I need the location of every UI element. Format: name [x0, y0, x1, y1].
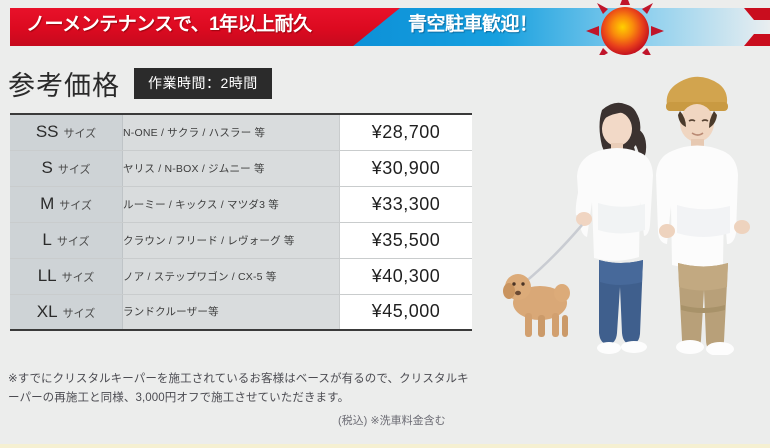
size-label: XL [37, 302, 58, 321]
size-cell: LLサイズ [10, 258, 123, 294]
models-cell: ヤリス / N-BOX / ジムニー 等 [123, 150, 340, 186]
size-unit-label: サイズ [64, 128, 97, 140]
size-label: SS [36, 122, 59, 141]
size-cell: Lサイズ [10, 222, 123, 258]
size-unit-label: サイズ [58, 164, 91, 176]
size-cell: Mサイズ [10, 186, 123, 222]
price-cell: ¥40,300 [340, 258, 473, 294]
size-cell: SSサイズ [10, 114, 123, 150]
price-cell: ¥33,300 [340, 186, 473, 222]
footnote-text: ※すでにクリスタルキーパーを施工されているお客様はベースが有るので、クリスタルキ… [8, 370, 478, 408]
price-cell: ¥45,000 [340, 294, 473, 330]
ribbon-blue-label: 青空駐車歓迎！ [408, 9, 538, 36]
models-cell: ノア / ステップワゴン / CX-5 等 [123, 258, 340, 294]
size-label: L [42, 230, 51, 249]
size-unit-label: サイズ [62, 272, 95, 284]
table-row: LLサイズノア / ステップワゴン / CX-5 等¥40,300 [10, 258, 472, 294]
size-label: S [41, 158, 52, 177]
price-cell: ¥35,500 [340, 222, 473, 258]
models-cell: N-ONE / サクラ / ハスラー 等 [123, 114, 340, 150]
ribbon-red-label: ノーメンテナンスで、1年以上耐久 [26, 9, 312, 36]
size-label: LL [38, 266, 57, 285]
work-time-badge: 作業時間：2時間 [134, 68, 272, 99]
models-cell: クラウン / フリード / レヴォーグ 等 [123, 222, 340, 258]
size-label: M [40, 194, 54, 213]
price-cell: ¥28,700 [340, 114, 473, 150]
size-cell: XLサイズ [10, 294, 123, 330]
bottom-strip [0, 444, 770, 448]
size-unit-label: サイズ [59, 200, 92, 212]
page-title: 参考価格 [8, 64, 120, 103]
table-row: SSサイズN-ONE / サクラ / ハスラー 等¥28,700 [10, 114, 472, 150]
price-cell: ¥30,900 [340, 150, 473, 186]
size-unit-label: サイズ [63, 308, 96, 320]
table-row: Lサイズクラウン / フリード / レヴォーグ 等¥35,500 [10, 222, 472, 258]
couple-walking-dog-photo [492, 55, 770, 355]
table-row: Mサイズルーミー / キックス / マツダ3 等¥33,300 [10, 186, 472, 222]
models-cell: ルーミー / キックス / マツダ3 等 [123, 186, 340, 222]
ribbon-blue-band [330, 8, 770, 46]
size-unit-label: サイズ [57, 236, 90, 248]
models-cell: ランドクルーザー等 [123, 294, 340, 330]
price-table: SSサイズN-ONE / サクラ / ハスラー 等¥28,700Sサイズヤリス … [10, 113, 472, 331]
table-row: Sサイズヤリス / N-BOX / ジムニー 等¥30,900 [10, 150, 472, 186]
table-row: XLサイズランドクルーザー等¥45,000 [10, 294, 472, 330]
promo-ribbon: ノーメンテナンスで、1年以上耐久 青空駐車歓迎！ [0, 0, 770, 55]
heading-row: 参考価格 作業時間：2時間 [8, 64, 272, 103]
size-cell: Sサイズ [10, 150, 123, 186]
tax-note: (税込) ※洗車料金含む [338, 412, 446, 428]
arrow-right-icon [744, 6, 770, 48]
